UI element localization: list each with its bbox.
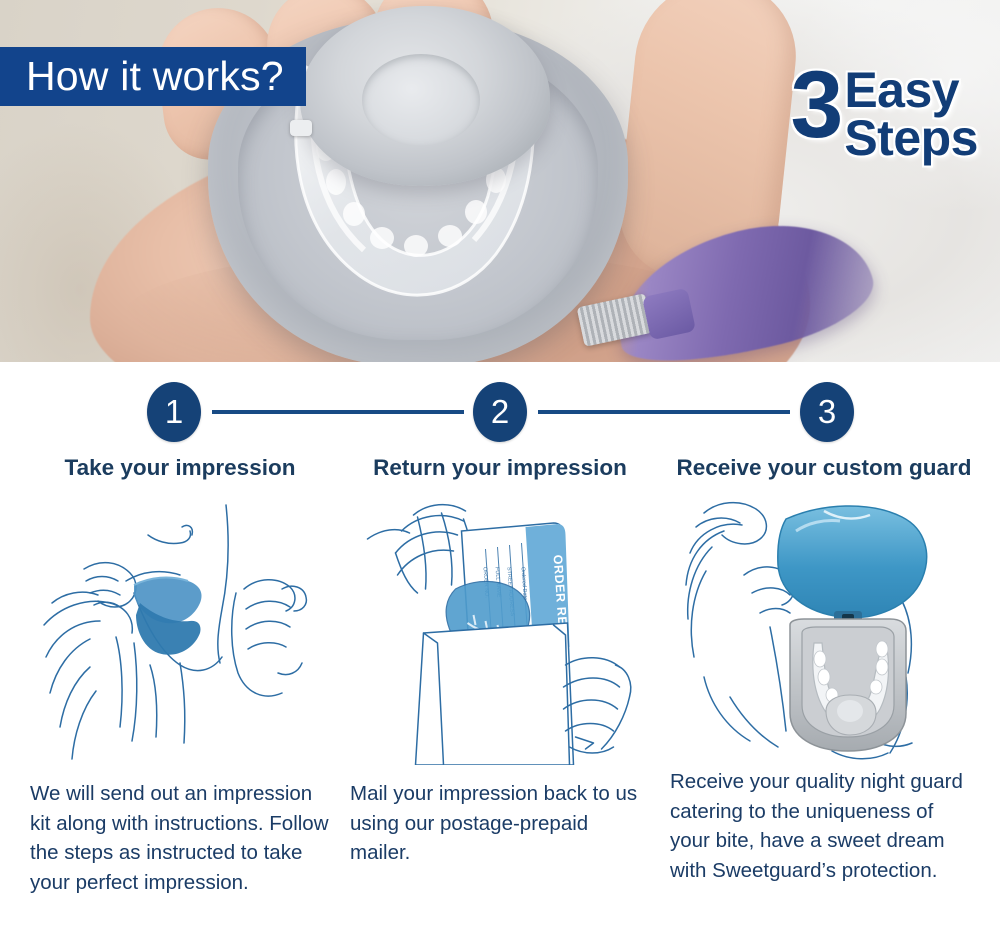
step-illustration-1 [30,497,330,765]
step-column-2: Return your impression [340,454,660,898]
case-lid [300,6,550,186]
easy-steps-word-easy: Easy [844,66,978,114]
step-heading-3: Receive your custom guard [670,454,978,481]
step-connector-2 [538,410,790,414]
easy-steps-word-steps: Steps [844,114,978,162]
case-latch [290,120,312,136]
page-title: How it works? [26,56,284,97]
step-column-1: Take your impression [0,454,340,898]
step-heading-2: Return your impression [350,454,650,481]
step-number-circle-2: 2 [473,382,527,442]
easy-steps-badge: 3 Easy Steps [790,62,978,162]
step-heading-1: Take your impression [30,454,330,481]
step-illustration-3 [670,497,978,765]
step-number-circle-3: 3 [800,382,854,442]
step-illustration-2: ORDER RETURN F ORDER NO. FULL NAME STREE… [350,497,650,765]
step-connector-1 [212,410,464,414]
steps-section: 1 2 3 Take your impression [0,362,1000,942]
step-column-3: Receive your custom guard [660,454,1000,898]
steps-columns: Take your impression [0,454,1000,898]
step-body-2: Mail your impression back to us using ou… [350,779,650,868]
step-indicator-row: 1 2 3 [0,382,1000,444]
title-banner: How it works? [0,47,306,106]
step-number-circle-1: 1 [147,382,201,442]
easy-steps-words: Easy Steps [844,66,978,162]
step-body-1: We will send out an impression kit along… [30,779,330,897]
hero-photo-section: How it works? 3 Easy Steps [0,0,1000,362]
step-body-3: Receive your quality night guard caterin… [670,767,978,885]
easy-steps-number: 3 [790,62,840,149]
purple-cap [642,288,696,341]
